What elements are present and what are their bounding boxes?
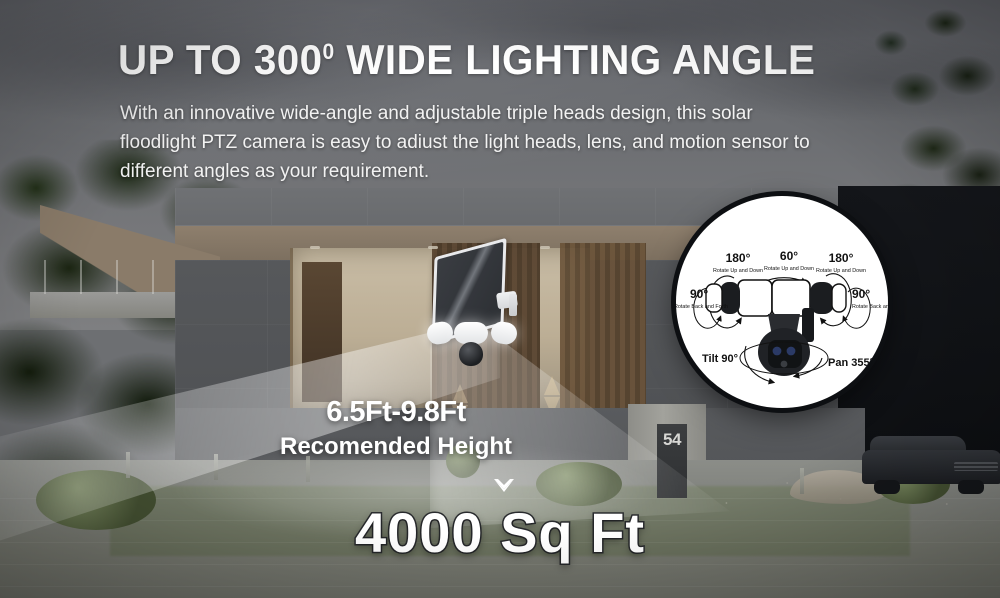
house-number: 54 — [657, 430, 687, 450]
diagram-right-side-angle: 90° — [852, 287, 870, 301]
headline-prefix: UP TO 300 — [118, 36, 323, 83]
suv-grille — [954, 462, 998, 471]
parked-suv — [862, 436, 1000, 496]
diagram-right-angle: 180° — [829, 251, 854, 265]
floodlight-head-center — [454, 322, 488, 344]
suv-wheel — [958, 480, 984, 494]
diagram-center-caption: Rotate Up and Down — [764, 266, 814, 272]
ptz-camera-dome — [459, 342, 483, 366]
floodlight-head-right — [489, 320, 518, 346]
suv-wheel — [874, 480, 900, 494]
wall-mount-bracket — [509, 294, 517, 316]
coverage-area: 4000 Sq Ft — [0, 500, 1000, 565]
promo-banner: 54 — [0, 0, 1000, 598]
house-number-post: 54 — [657, 424, 687, 498]
diagram-right-side-caption: Rotate Back and Forth — [852, 304, 888, 310]
diagram-left-side-angle: 90° — [690, 287, 708, 301]
path-bollard — [800, 468, 804, 494]
ceiling-downlight — [540, 246, 550, 249]
angle-diagram-circle: 180° Rotate Up and Down 60° Rotate Up an… — [676, 196, 888, 408]
page-title: UP TO 3000 WIDE LIGHTING ANGLE — [118, 36, 815, 84]
height-range: 6.5Ft-9.8Ft — [266, 396, 526, 429]
chevron-down-icon — [490, 476, 518, 494]
diagram-center-angle: 60° — [780, 249, 798, 263]
diagram-right-caption: Rotate Up and Down — [816, 268, 866, 274]
body-copy: With an innovative wide-angle and adjust… — [120, 100, 830, 187]
solar-floodlight-camera — [425, 248, 535, 368]
wood-cladding-right — [560, 243, 646, 409]
diagram-left-angle: 180° — [726, 251, 751, 265]
headline-suffix: WIDE LIGHTING ANGLE — [335, 36, 816, 83]
ceiling-downlight — [310, 246, 320, 249]
path-bollard — [126, 452, 130, 478]
diagram-left-caption: Rotate Up and Down — [713, 268, 763, 274]
angle-diagram-svg: 180° Rotate Up and Down 60° Rotate Up an… — [676, 196, 888, 408]
mounting-height-callout: 6.5Ft-9.8Ft Recomended Height — [266, 396, 526, 461]
path-bollard — [214, 454, 218, 480]
diagram-left-side-caption: Rotate Back and Forth — [676, 304, 728, 310]
degree-symbol: 0 — [323, 39, 335, 64]
diagram-tilt-label: Tilt 90° — [702, 353, 738, 365]
height-caption: Recomended Height — [266, 433, 526, 461]
interior-doorway — [302, 262, 342, 402]
